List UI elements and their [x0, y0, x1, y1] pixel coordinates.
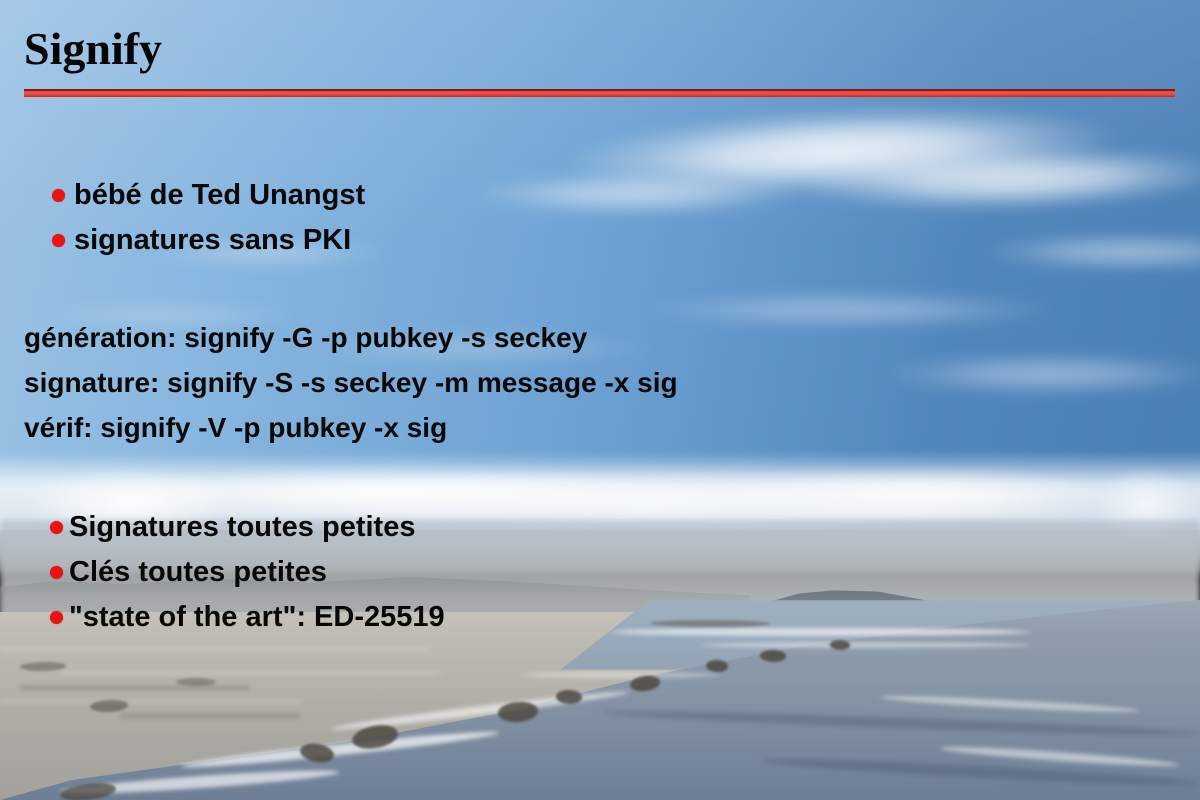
list-item: Clés toutes petites	[50, 558, 327, 587]
bullet-dot-icon	[50, 521, 63, 534]
bullet-dot-icon	[52, 234, 65, 247]
list-item-label: signatures sans PKI	[74, 226, 351, 255]
bullet-dot-icon	[52, 189, 65, 202]
command-line-verification: vérif: signify -V -p pubkey -x sig	[24, 414, 447, 442]
bullet-dot-icon	[50, 611, 63, 624]
list-item: signatures sans PKI	[52, 226, 351, 255]
list-item: "state of the art": ED-25519	[50, 603, 445, 632]
slide-body: bébé de Ted Unangst signatures sans PKI …	[0, 0, 1200, 800]
presentation-slide: Signify bébé de Ted Unangst signatures s…	[0, 0, 1200, 800]
list-item-label: "state of the art": ED-25519	[69, 603, 445, 632]
list-item-label: Clés toutes petites	[69, 558, 327, 587]
list-item-label: bébé de Ted Unangst	[74, 181, 365, 210]
list-item: bébé de Ted Unangst	[52, 181, 365, 210]
command-line-signature: signature: signify -S -s seckey -m messa…	[24, 369, 678, 397]
list-item: Signatures toutes petites	[50, 513, 415, 542]
bullet-dot-icon	[50, 566, 63, 579]
command-line-generation: génération: signify -G -p pubkey -s seck…	[24, 324, 587, 352]
list-item-label: Signatures toutes petites	[69, 513, 415, 542]
